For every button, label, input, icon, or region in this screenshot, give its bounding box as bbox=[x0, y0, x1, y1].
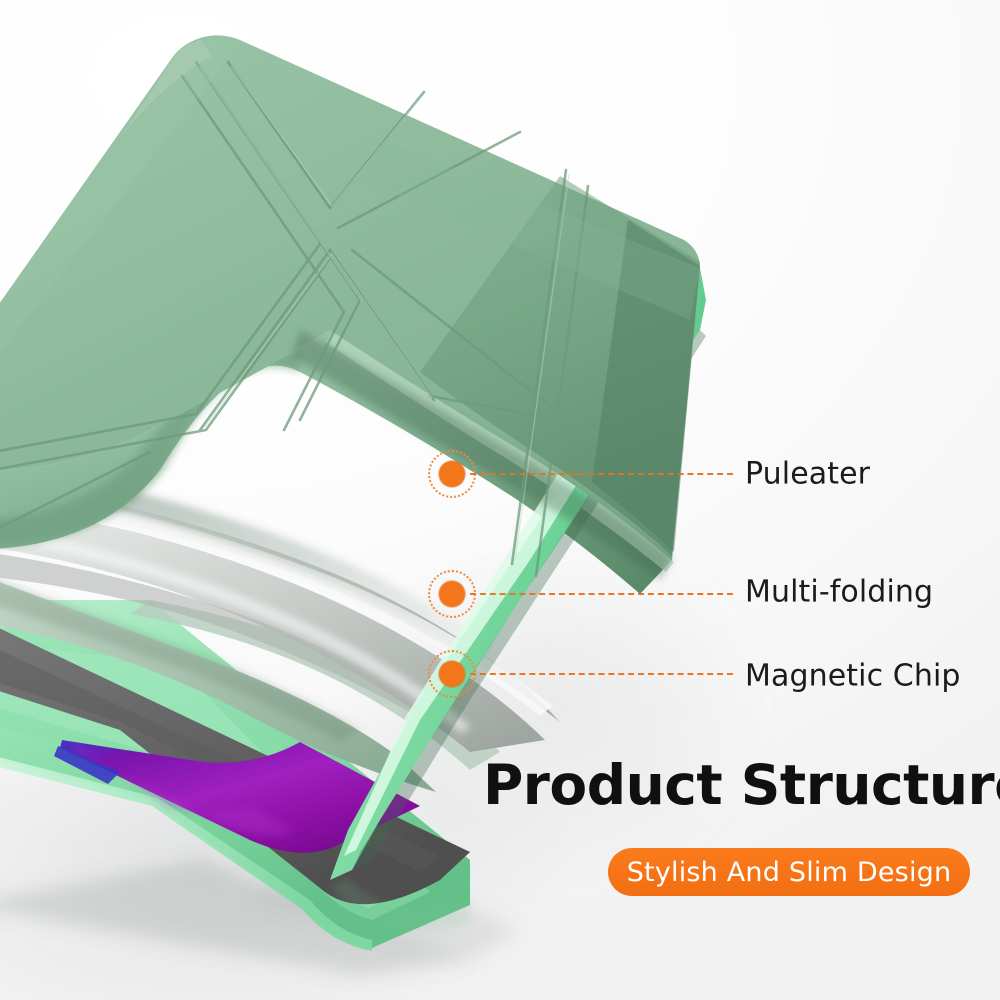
product-structure-infographic: Puleater Multi-folding Magnetic Chip Pro… bbox=[0, 0, 1000, 1000]
tagline-badge[interactable]: Stylish And Slim Design bbox=[608, 848, 970, 896]
tagline-badge-label: Stylish And Slim Design bbox=[627, 857, 952, 888]
page-title: Product Structure bbox=[483, 753, 1000, 817]
